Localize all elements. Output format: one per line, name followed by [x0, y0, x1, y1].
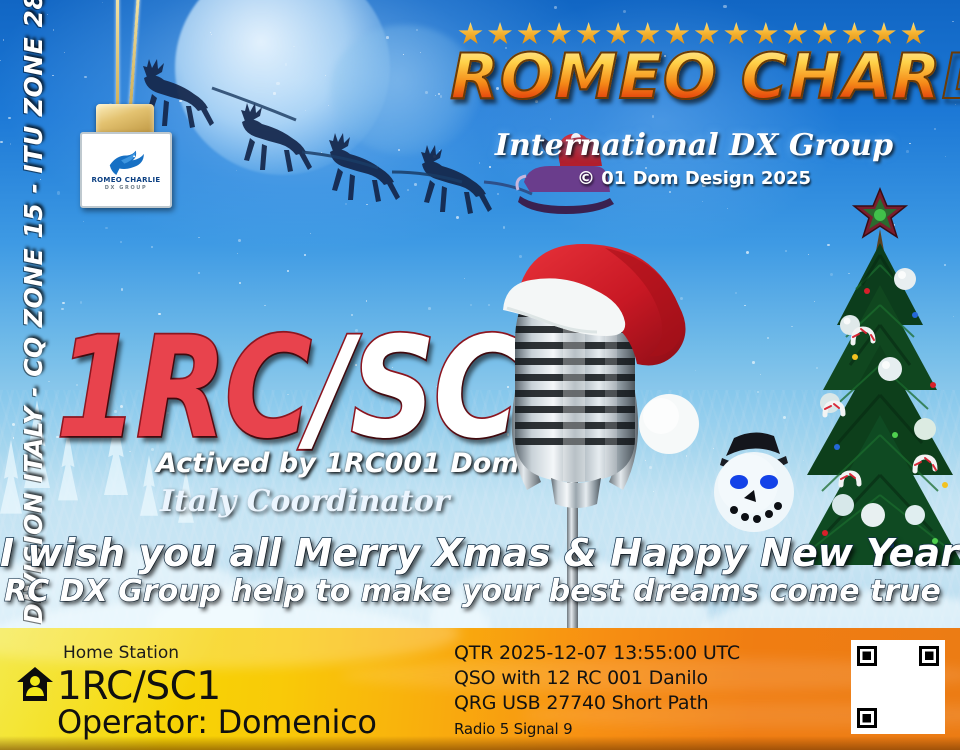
snowflake-dot: [386, 36, 389, 39]
snowflake-dot: [366, 300, 367, 301]
qr-code-icon[interactable]: [851, 640, 945, 734]
snowflake-dot: [702, 201, 703, 202]
snowflake-dot: [767, 337, 769, 339]
qsl-card: ROMEO CHARLIE DX GROUP ROMEO CHARLIE Int…: [0, 0, 960, 750]
snowflake-dot: [198, 237, 200, 239]
snowflake-dot: [151, 246, 153, 248]
snowflake-dot: [952, 21, 954, 23]
snowflake-dot: [934, 128, 937, 131]
snowflake-dot: [416, 29, 418, 31]
snowflake-dot: [8, 117, 11, 120]
qso-details: QTR 2025-12-07 13:55:00 UTC QSO with 12 …: [454, 641, 834, 740]
brand-subtitle: International DX Group: [455, 128, 933, 163]
snowflake-dot: [652, 115, 654, 117]
callsign-prefix: 1RC: [56, 306, 310, 469]
ornament-chain: [116, 0, 119, 114]
snowflake-dot: [3, 39, 5, 41]
snowflake-dot: [105, 227, 107, 229]
greeting-line-1: I wish you all Merry Xmas & Happy New Ye…: [0, 531, 945, 575]
snowflake-dot: [287, 270, 289, 272]
brand-title: ROMEO CHARLIE: [450, 46, 938, 108]
snowflake-dot: [83, 221, 84, 222]
snowflake-dot: [752, 361, 755, 364]
snowflake-dot: [121, 288, 124, 291]
dove-icon: [106, 149, 146, 175]
club-logo-badge: ROMEO CHARLIE DX GROUP: [80, 132, 172, 208]
snowflake-dot: [744, 305, 746, 307]
role-text: Italy Coordinator: [160, 484, 450, 519]
snowflake-dot: [669, 191, 671, 193]
snowflake-dot: [211, 34, 212, 35]
snowflake-dot: [198, 272, 201, 275]
callsign-separator: /: [310, 306, 351, 469]
badge-line-1: ROMEO CHARLIE: [91, 176, 160, 184]
snowflake-dot: [10, 143, 12, 145]
snowflake-dot: [791, 326, 793, 328]
badge-line-2: DX GROUP: [105, 185, 147, 191]
operator-name: Operator: Domenico: [57, 703, 377, 741]
qso-line-qso: QSO with 12 RC 001 Danilo: [454, 666, 834, 691]
snowflake-dot: [0, 141, 2, 143]
snowflake-dot: [623, 10, 626, 13]
snowflake-dot: [62, 302, 64, 304]
snowflake-dot: [64, 52, 65, 53]
greeting-line-2: RC DX Group help to make your best dream…: [0, 574, 945, 609]
snowflake-dot: [310, 233, 311, 234]
qso-line-qrg: QRG USB 27740 Short Path: [454, 691, 834, 716]
snowflake-dot: [210, 32, 211, 33]
snowflake-dot: [84, 76, 87, 79]
snowflake-dot: [554, 6, 557, 9]
signal-report: Radio 5 Signal 9: [454, 718, 834, 740]
qr-code-canvas: [857, 646, 939, 728]
snowflake-dot: [102, 2, 103, 3]
snowflake-dot: [239, 282, 241, 284]
qso-line-qtr: QTR 2025-12-07 13:55:00 UTC: [454, 641, 834, 666]
snowflake-dot: [746, 251, 749, 254]
snowflake-dot: [80, 301, 83, 304]
snowflake-dot: [723, 5, 726, 8]
snowflake-dot: [120, 241, 122, 243]
snowflake-dot: [0, 60, 1, 61]
snowflake-dot: [304, 254, 307, 257]
snowflake-dot: [760, 374, 761, 375]
home-icon: [16, 666, 54, 702]
snowflake-dot: [237, 253, 238, 254]
snowflake-dot: [785, 250, 787, 252]
snowflake-dot: [727, 208, 728, 209]
snowflake-dot: [238, 239, 241, 242]
snowflake-dot: [945, 156, 946, 157]
home-station-label: Home Station: [63, 643, 179, 663]
snowflake-dot: [735, 292, 737, 294]
